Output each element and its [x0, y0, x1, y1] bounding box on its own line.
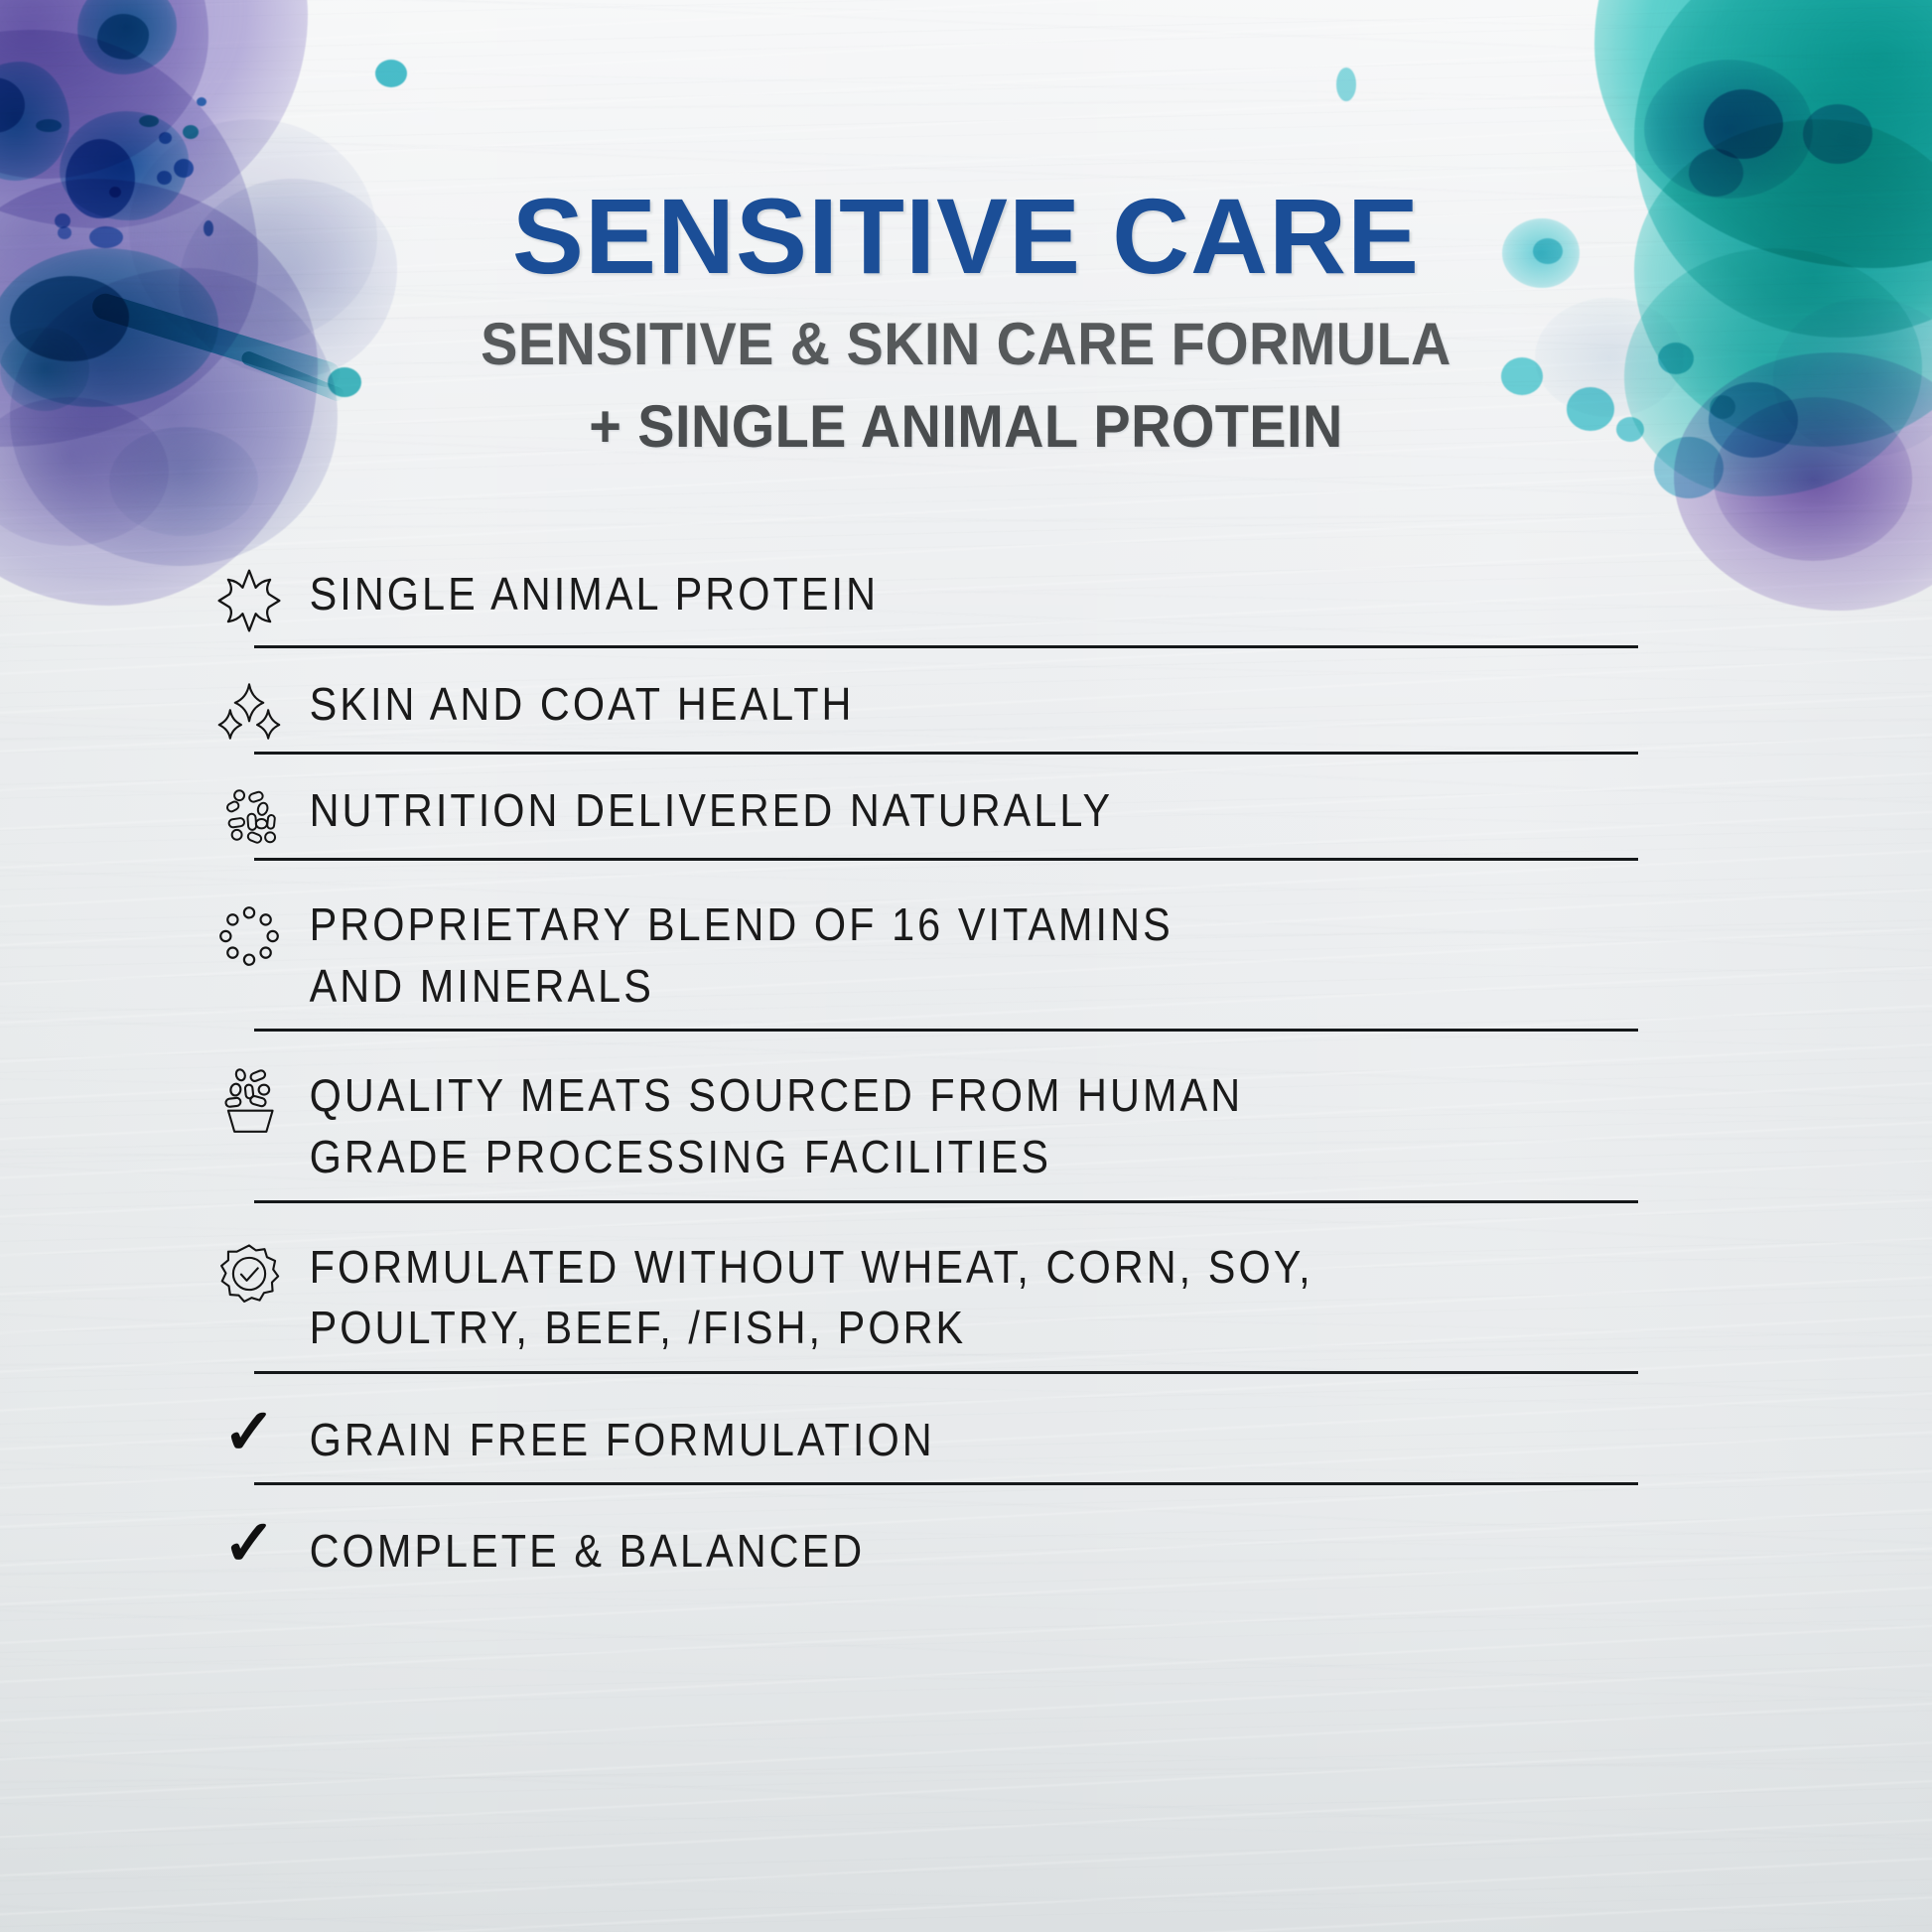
feature-label: SINGLE ANIMAL PROTEIN	[288, 564, 1507, 625]
subtitle-formula: SENSITIVE & SKIN CARE FORMULA	[68, 310, 1864, 378]
feature-label: GRAIN FREE FORMULATION	[288, 1400, 1507, 1471]
seeds-cluster-icon	[210, 780, 288, 846]
feature-label: COMPLETE & BALANCED	[288, 1511, 1507, 1583]
subtitle-protein: + SINGLE ANIMAL PROTEIN	[68, 392, 1864, 461]
feature-item-single-animal-protein: SINGLE ANIMAL PROTEIN	[210, 564, 1642, 645]
checkmark-glyph: ✓	[222, 1511, 276, 1575]
feature-item-skin-and-coat-health: SKIN AND COAT HEALTH	[210, 674, 1642, 752]
checkmark-icon: ✓	[210, 1511, 288, 1575]
feature-item-grain-free-formulation: ✓ GRAIN FREE FORMULATION	[210, 1400, 1642, 1483]
starburst-icon	[210, 564, 288, 633]
product-feature-panel: SENSITIVE CARE SENSITIVE & SKIN CARE FOR…	[0, 0, 1932, 1932]
feature-item-proprietary-vitamin-blend: PROPRIETARY BLEND OF 16 VITAMINS AND MIN…	[210, 895, 1642, 1029]
checkmark-icon: ✓	[210, 1400, 288, 1463]
page-title: SENSITIVE CARE	[0, 181, 1932, 292]
food-bowl-icon	[210, 1065, 288, 1137]
feature-item-quality-meats-sourced: QUALITY MEATS SOURCED FROM HUMAN GRADE P…	[210, 1065, 1642, 1199]
badge-check-icon	[210, 1237, 288, 1305]
feature-item-formulated-without: FORMULATED WITHOUT WHEAT, CORN, SOY, POU…	[210, 1237, 1642, 1371]
feature-label: FORMULATED WITHOUT WHEAT, CORN, SOY, POU…	[288, 1237, 1507, 1359]
header-block: SENSITIVE CARE SENSITIVE & SKIN CARE FOR…	[0, 181, 1932, 461]
feature-item-nutrition-delivered-naturally: NUTRITION DELIVERED NATURALLY	[210, 780, 1642, 858]
feature-item-complete-and-balanced: ✓ COMPLETE & BALANCED	[210, 1511, 1642, 1594]
feature-list: SINGLE ANIMAL PROTEIN SKIN AND COAT HEAL…	[210, 564, 1642, 1594]
sparkles-icon	[210, 674, 288, 740]
feature-label: QUALITY MEATS SOURCED FROM HUMAN GRADE P…	[288, 1065, 1507, 1187]
feature-label: NUTRITION DELIVERED NATURALLY	[288, 780, 1507, 842]
checkmark-glyph: ✓	[222, 1400, 276, 1463]
dots-circle-icon	[210, 895, 288, 968]
feature-label: PROPRIETARY BLEND OF 16 VITAMINS AND MIN…	[288, 895, 1507, 1017]
feature-label: SKIN AND COAT HEALTH	[288, 674, 1507, 736]
